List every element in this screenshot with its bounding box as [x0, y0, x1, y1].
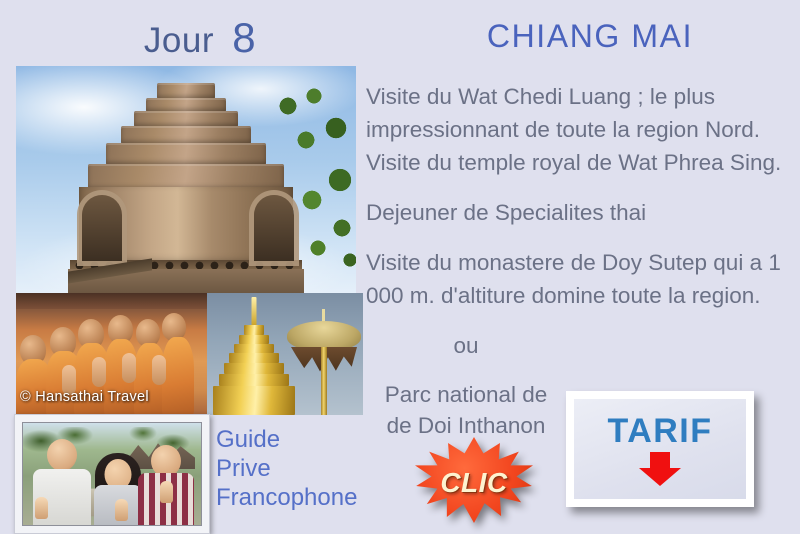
chedi-tier — [239, 335, 269, 344]
page-title-destination: CHIANG MAI — [400, 18, 780, 55]
chedi-tier — [121, 126, 251, 144]
guide-line-2: Prive — [216, 454, 392, 483]
photo-credit-watermark: © Hansathai Travel — [20, 389, 149, 405]
tarif-button[interactable]: TARIF — [566, 391, 754, 507]
praying-hands — [92, 357, 106, 387]
temple-shade — [16, 293, 208, 309]
praying-hands — [152, 355, 166, 385]
golden-chedi — [211, 297, 297, 415]
monk-robe — [162, 337, 194, 415]
itinerary-paragraph-1: Visite du Wat Chedi Luang ; le plus impr… — [366, 80, 786, 179]
alternative-option: Parc national de de Doi Inthanon — [366, 379, 566, 441]
chedi-base — [213, 386, 295, 415]
photo-inner-frame — [22, 422, 202, 526]
chedi-tier — [229, 353, 279, 363]
day-label: Jour — [144, 21, 214, 60]
photo-guide-with-travellers — [14, 414, 210, 534]
chedi-tier — [219, 374, 289, 386]
praying-hands — [122, 353, 136, 383]
itinerary-description: Visite du Wat Chedi Luang ; le plus impr… — [366, 80, 786, 441]
person-head — [47, 439, 77, 471]
tarif-label: TARIF — [607, 412, 712, 450]
umbrella-pole — [321, 347, 327, 415]
peace-sign-hand — [35, 497, 48, 519]
chedi-niche — [82, 195, 122, 261]
guide-line-3: Francophone — [216, 483, 392, 512]
chedi-spire — [252, 297, 257, 327]
guide-line-1: Guide — [216, 425, 392, 454]
chedi-tier — [244, 325, 264, 335]
alternative-line-1: Parc national de — [385, 382, 548, 407]
chedi-structure — [68, 81, 304, 295]
chedi-tier — [234, 344, 274, 353]
down-arrow-icon — [638, 452, 682, 486]
chedi-tier — [224, 363, 284, 374]
peace-sign-hand — [160, 481, 173, 503]
itinerary-paragraph-3: Visite du monastere de Doy Sutep qui a 1… — [366, 246, 786, 312]
alternative-connector: ou — [366, 329, 566, 362]
page-title-day: Jour 8 — [60, 14, 340, 62]
slide-canvas: Jour 8 CHIANG MAI — [0, 0, 800, 534]
alternative-line-2: de Doi Inthanon — [387, 413, 546, 438]
chedi-tier — [146, 98, 226, 112]
day-number: 8 — [232, 14, 256, 61]
chedi-tier — [106, 143, 266, 165]
photo-wat-chedi-luang — [16, 66, 356, 295]
itinerary-paragraph-2: Dejeuner de Specialites thai — [366, 196, 786, 229]
guide-service-label: Guide Prive Francophone — [216, 425, 392, 512]
chedi-niche — [254, 195, 294, 261]
tarif-button-face: TARIF — [574, 399, 746, 499]
photo-doi-suthep-chedi — [207, 293, 363, 415]
peace-sign-hand — [115, 499, 128, 521]
clic-badge[interactable]: CLIC — [415, 437, 533, 523]
chedi-tier — [134, 111, 238, 127]
ceremonial-umbrella — [287, 307, 361, 415]
chedi-tier — [157, 83, 215, 99]
clic-label: CLIC — [415, 467, 533, 499]
